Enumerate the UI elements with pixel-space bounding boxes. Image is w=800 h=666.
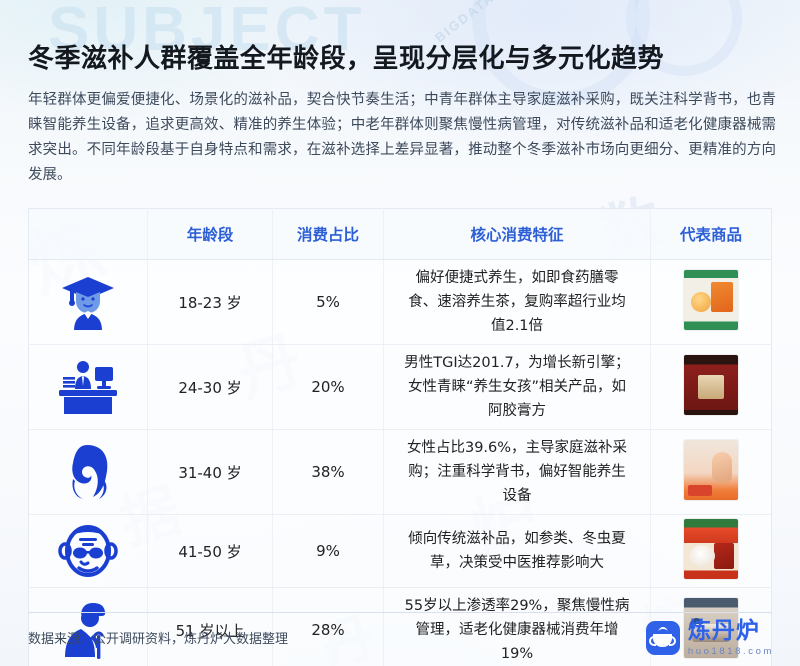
table-row: 41-50 岁 9% 倾向传统滋补品，如参类、冬虫夏草，决策受中医推荐影响大 bbox=[29, 515, 772, 588]
row-feature: 男性TGI达201.7，为增长新引擎；女性青睐“养生女孩”相关产品，如阿胶膏方 bbox=[384, 345, 651, 430]
row-product-cell bbox=[651, 260, 772, 345]
table-row: 24-30 岁 20% 男性TGI达201.7，为增长新引擎；女性青睐“养生女孩… bbox=[29, 345, 772, 430]
row-share: 9% bbox=[273, 515, 384, 588]
row-product-cell bbox=[651, 515, 772, 588]
row-product-cell bbox=[651, 345, 772, 430]
row-icon-cell bbox=[29, 515, 148, 588]
table-header-row: 年龄段 消费占比 核心消费特征 代表商品 bbox=[29, 209, 772, 260]
column-header-icon bbox=[29, 209, 148, 260]
row-age: 24-30 岁 bbox=[148, 345, 273, 430]
pot-icon bbox=[653, 634, 672, 647]
brand-text: 炼丹炉 huo1818.com bbox=[688, 620, 774, 657]
long-hair-woman-icon bbox=[29, 441, 147, 503]
row-share: 38% bbox=[273, 430, 384, 515]
column-header-share: 消费占比 bbox=[273, 209, 384, 260]
row-feature: 倾向传统滋补品，如参类、冬虫夏草，决策受中医推荐影响大 bbox=[384, 515, 651, 588]
row-share: 5% bbox=[273, 260, 384, 345]
middle-aged-man-sunglasses-icon bbox=[29, 520, 147, 582]
row-age: 18-23 岁 bbox=[148, 260, 273, 345]
data-source-text: 数据来源：公开调研资料，炼丹炉大数据整理 bbox=[28, 628, 288, 647]
page-title: 冬季滋补人群覆盖全年龄段，呈现分层化与多元化趋势 bbox=[28, 38, 664, 75]
row-feature: 55岁以上渗透率29%，聚焦慢性病管理，适老化健康器械消费年增19% bbox=[384, 588, 651, 666]
footer-divider bbox=[28, 612, 772, 613]
column-header-feature: 核心消费特征 bbox=[384, 209, 651, 260]
instant-herbal-snack-product bbox=[684, 270, 738, 330]
table-header: 年龄段 消费占比 核心消费特征 代表商品 bbox=[29, 209, 772, 260]
row-icon-cell bbox=[29, 430, 148, 515]
age-segment-table: 年龄段 消费占比 核心消费特征 代表商品 bbox=[28, 208, 772, 666]
table-body: 18-23 岁 5% 偏好便捷式养生，如即食药膳零食、速溶养生茶，复购率超行业均… bbox=[29, 260, 772, 666]
ejiao-paste-product bbox=[684, 355, 738, 415]
brand-logo: 炼丹炉 huo1818.com bbox=[646, 620, 774, 657]
row-feature: 女性占比39.6%，主导家庭滋补采购；注重科学背书，偏好智能养生设备 bbox=[384, 430, 651, 515]
column-header-age: 年龄段 bbox=[148, 209, 273, 260]
table-row: 31-40 岁 38% 女性占比39.6%，主导家庭滋补采购；注重科学背书，偏好… bbox=[29, 430, 772, 515]
row-icon-cell bbox=[29, 260, 148, 345]
brand-name: 炼丹炉 bbox=[688, 620, 774, 643]
cauldron-icon bbox=[646, 621, 680, 655]
row-age: 41-50 岁 bbox=[148, 515, 273, 588]
row-icon-cell bbox=[29, 588, 148, 666]
row-feature: 偏好便捷式养生，如即食药膳零食、速溶养生茶，复购率超行业均值2.1倍 bbox=[384, 260, 651, 345]
row-age: 31-40 岁 bbox=[148, 430, 273, 515]
traditional-tonic-product bbox=[684, 519, 738, 579]
office-worker-icon bbox=[29, 356, 147, 418]
column-header-product: 代表商品 bbox=[651, 209, 772, 260]
row-share: 20% bbox=[273, 345, 384, 430]
row-product-cell bbox=[651, 430, 772, 515]
table-row: 18-23 岁 5% 偏好便捷式养生，如即食药膳零食、速溶养生茶，复购率超行业均… bbox=[29, 260, 772, 345]
graduate-student-icon bbox=[29, 271, 147, 333]
row-icon-cell bbox=[29, 345, 148, 430]
row-share: 28% bbox=[273, 588, 384, 666]
row-age: 51 岁以上 bbox=[148, 588, 273, 666]
intro-paragraph: 年轻群体更偏爱便捷化、场景化的滋补品，契合快节奏生活；中青年群体主导家庭滋补采购… bbox=[28, 88, 776, 188]
brand-url: huo1818.com bbox=[688, 647, 774, 657]
infographic-page: SUBJECT BIGDATA 炼 丹 炉 数 据 炼 丹 冬季滋补人群覆盖全年… bbox=[0, 0, 800, 666]
smart-wellness-device-product bbox=[684, 440, 738, 500]
